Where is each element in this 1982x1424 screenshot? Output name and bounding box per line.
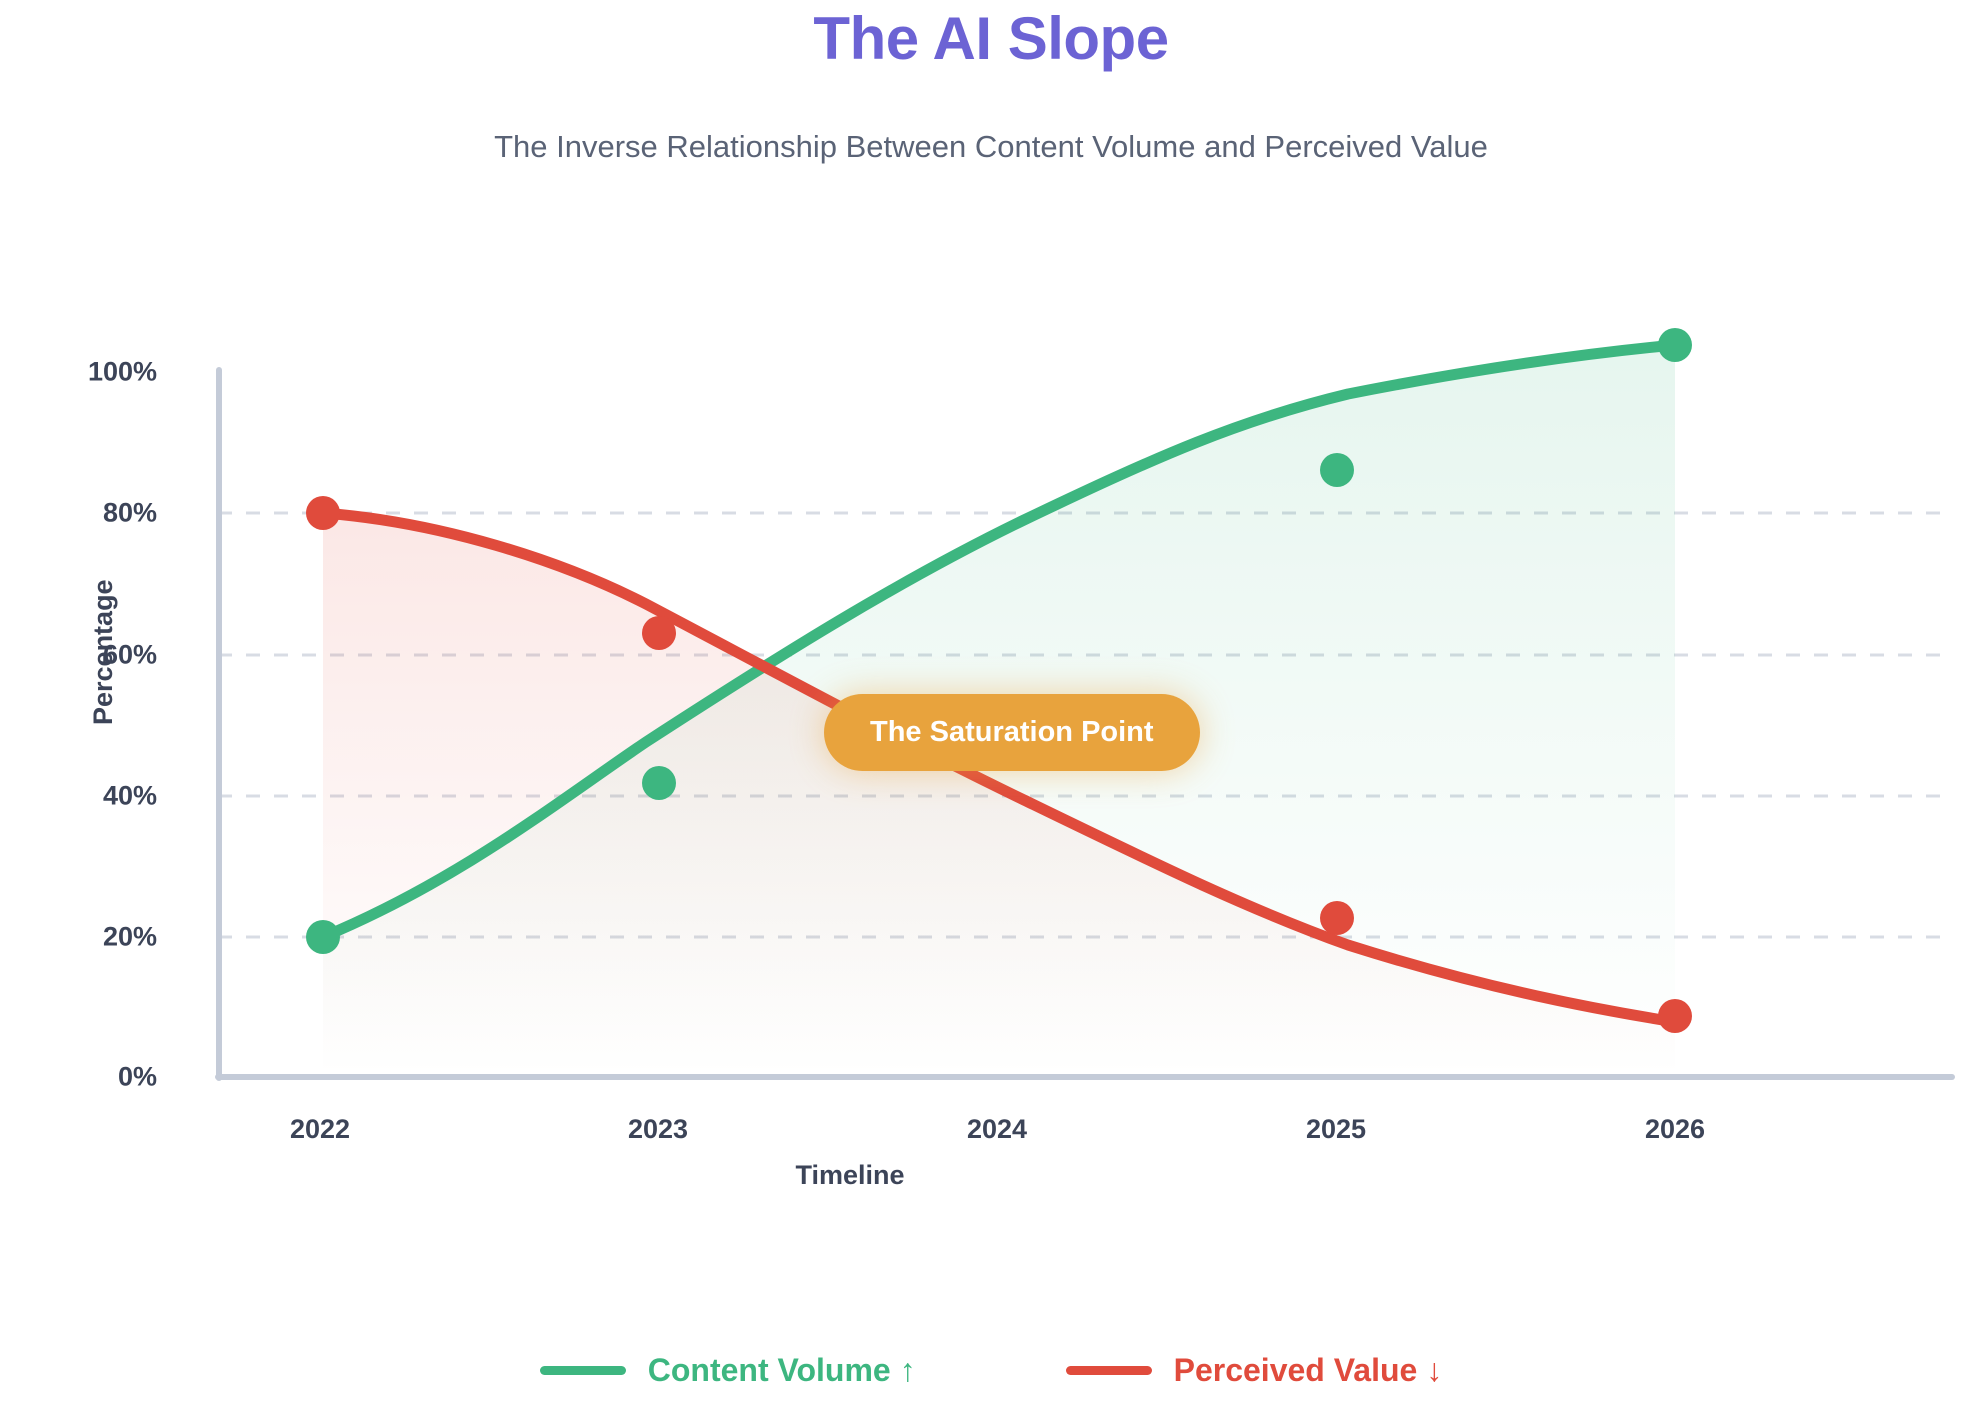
legend-label-perceived-value: Perceived Value ↓ [1174, 1352, 1443, 1389]
legend-line-icon-perceived-value [1066, 1366, 1152, 1375]
legend-line-icon-content-volume [540, 1366, 626, 1375]
data-point-value-2025[interactable] [1320, 901, 1354, 935]
data-point-value-2026[interactable] [1658, 999, 1692, 1033]
data-point-value-2022[interactable] [306, 496, 340, 530]
legend-item-content-volume[interactable]: Content Volume ↑ [540, 1352, 916, 1389]
chart-page: The AI Slope The Inverse Relationship Be… [0, 0, 1982, 1424]
x-tick-2024: 2024 [897, 1114, 1097, 1145]
data-point-content-2023[interactable] [642, 766, 676, 800]
y-tick-60: 60% [0, 640, 157, 671]
y-tick-20: 20% [0, 922, 157, 953]
x-tick-2022: 2022 [220, 1114, 420, 1145]
saturation-point-badge[interactable]: The Saturation Point [824, 694, 1200, 771]
data-point-content-2025[interactable] [1320, 453, 1354, 487]
x-tick-2025: 2025 [1236, 1114, 1436, 1145]
y-tick-80: 80% [0, 498, 157, 529]
legend-label-content-volume: Content Volume ↑ [648, 1352, 916, 1389]
x-axis-title: Timeline [0, 1160, 1700, 1191]
y-tick-40: 40% [0, 781, 157, 812]
data-point-content-2026[interactable] [1658, 328, 1692, 362]
legend-item-perceived-value[interactable]: Perceived Value ↓ [1066, 1352, 1443, 1389]
data-point-content-2022[interactable] [306, 920, 340, 954]
y-axis-title: Percentage [88, 579, 119, 725]
chart-legend: Content Volume ↑ Perceived Value ↓ [0, 1352, 1982, 1389]
data-point-value-2023[interactable] [642, 616, 676, 650]
plot-area: 100% 80% 60% 40% 20% 0% Percentage 2022 … [0, 0, 1982, 1424]
y-tick-0: 0% [0, 1062, 157, 1093]
x-tick-2026: 2026 [1575, 1114, 1775, 1145]
x-tick-2023: 2023 [558, 1114, 758, 1145]
y-tick-100: 100% [0, 357, 157, 388]
